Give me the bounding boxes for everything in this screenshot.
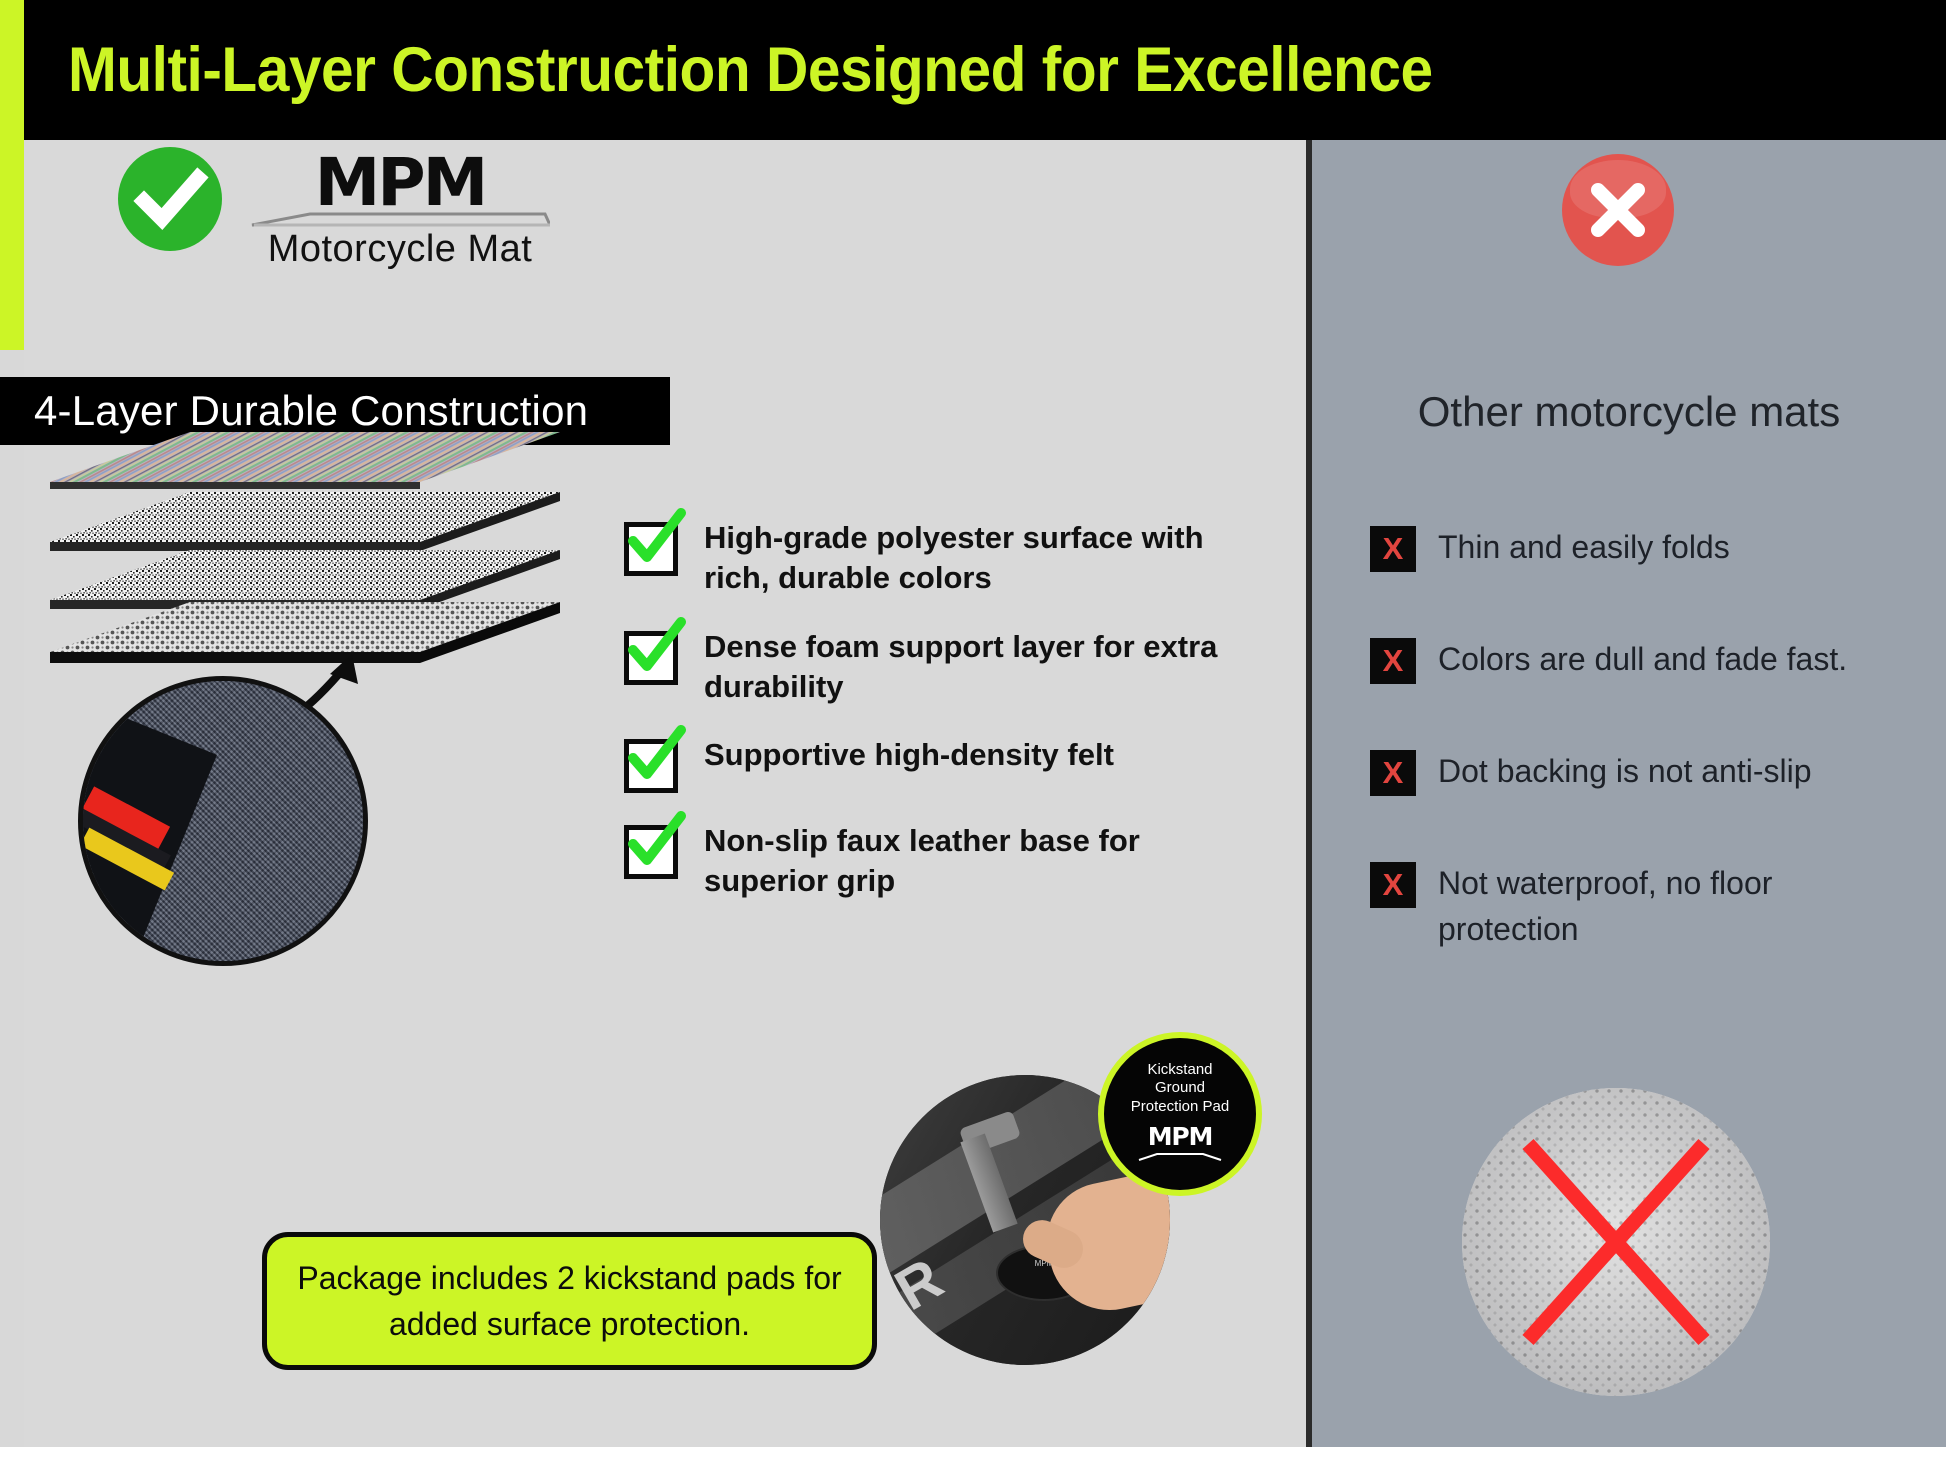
list-item: Supportive high-density felt [624,735,1264,793]
header-bar: Multi-Layer Construction Designed for Ex… [24,0,1946,140]
layer-polyester [50,432,560,489]
feature-text: Dense foam support layer for extra durab… [704,627,1244,708]
dot-backing-mat-photo [1462,1088,1770,1396]
x-mark-icon: X [1370,638,1416,684]
feature-text: Non-slip faux leather base for superior … [704,821,1244,902]
badge-line-1: Kickstand [1147,1061,1212,1080]
x-mark-icon: X [1370,862,1416,908]
callout-text: Package includes 2 kickstand pads for ad… [267,1255,872,1348]
feature-text: High-grade polyester surface with rich, … [704,518,1244,599]
brand-logo-text: MPM [250,150,550,216]
layer-foam [50,492,560,551]
badge-line-3: Protection Pad [1131,1098,1229,1117]
list-item: X Not waterproof, no floor protection [1370,860,1926,953]
checkbox-checked-icon [624,825,678,879]
right-panel-title: Other motorcycle mats [1312,388,1946,436]
red-x-overlay-icon [1462,1088,1770,1396]
green-check-circle-icon [118,147,222,251]
checkbox-checked-icon [624,739,678,793]
brand-tagline: Motorcycle Mat [250,228,550,271]
badge-logo-swoosh-icon [1137,1149,1223,1167]
x-mark-icon: X [1370,750,1416,796]
red-x-circle-icon [1562,154,1674,266]
kickstand-pads-callout: Package includes 2 kickstand pads for ad… [262,1232,877,1370]
exploded-layer-stack-diagram [40,420,560,670]
lime-accent-bar [0,0,27,350]
brand-block: MPM Motorcycle Mat [250,150,550,271]
fabric-weave-closeup-photo [78,676,368,966]
kickstand-pad-badge: Kickstand Ground Protection Pad MPM [1098,1032,1262,1196]
checkbox-checked-icon [624,522,678,576]
infographic-page: Multi-Layer Construction Designed for Ex… [0,0,1946,1460]
drawbacks-list: X Thin and easily folds X Colors are dul… [1370,524,1926,1017]
page-title: Multi-Layer Construction Designed for Ex… [68,34,1433,106]
bottom-strip [0,1447,1946,1460]
feature-text: Supportive high-density felt [704,735,1114,775]
badge-line-2: Ground [1155,1079,1205,1098]
list-item: High-grade polyester surface with rich, … [624,518,1264,599]
list-item: X Dot backing is not anti-slip [1370,748,1926,796]
list-item: Non-slip faux leather base for superior … [624,821,1264,902]
drawback-text: Not waterproof, no floor protection [1438,860,1908,953]
list-item: Dense foam support layer for extra durab… [624,627,1264,708]
list-item: X Colors are dull and fade fast. [1370,636,1926,684]
brand-swoosh-icon [250,212,550,226]
badge-logo-text: MPM [1148,1122,1212,1151]
x-mark-icon: X [1370,526,1416,572]
list-item: X Thin and easily folds [1370,524,1926,572]
feature-checklist: High-grade polyester surface with rich, … [624,518,1264,930]
drawback-text: Thin and easily folds [1438,524,1730,570]
layer-felt [50,550,560,609]
drawback-text: Dot backing is not anti-slip [1438,748,1812,794]
checkbox-checked-icon [624,631,678,685]
drawback-text: Colors are dull and fade fast. [1438,636,1847,682]
panel-divider [1306,140,1312,1460]
